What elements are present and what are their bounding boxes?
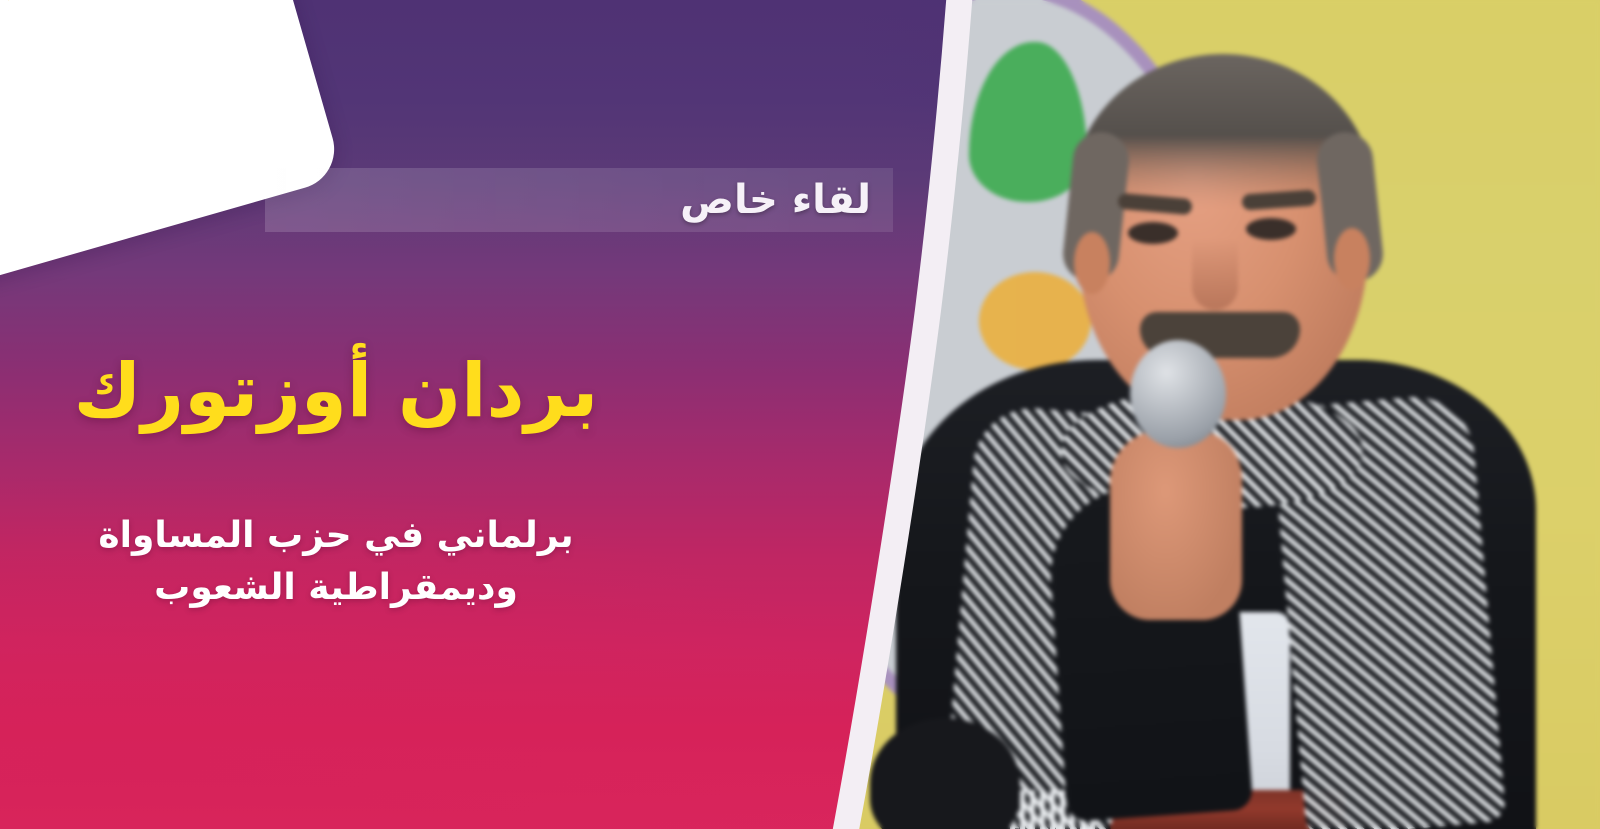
promo-banner: DEM bbox=[0, 0, 1600, 829]
kicker-label: لقاء خاص bbox=[680, 177, 871, 223]
microphone-head bbox=[1130, 340, 1226, 448]
subtitle: برلماني في حزب المساواة وديمقراطية الشعو… bbox=[0, 510, 672, 614]
page-title: بردان أوزتورك bbox=[0, 352, 672, 432]
speaker-ear-right bbox=[1334, 228, 1370, 290]
kurdistan-logo-text: كردستان bbox=[0, 0, 137, 91]
speaker-hand bbox=[1110, 430, 1242, 620]
kurdistan-logo-content: كردستان bbox=[0, 0, 147, 78]
kicker-chip: لقاء خاص bbox=[265, 168, 893, 232]
speaker-eye-left bbox=[1128, 222, 1178, 244]
speaker-nose bbox=[1192, 238, 1238, 310]
speaker-eye-right bbox=[1246, 218, 1296, 240]
speaker-ear-left bbox=[1074, 232, 1110, 294]
subtitle-line-2: وديمقراطية الشعوب bbox=[0, 562, 672, 614]
subtitle-line-1: برلماني في حزب المساواة bbox=[0, 510, 672, 562]
